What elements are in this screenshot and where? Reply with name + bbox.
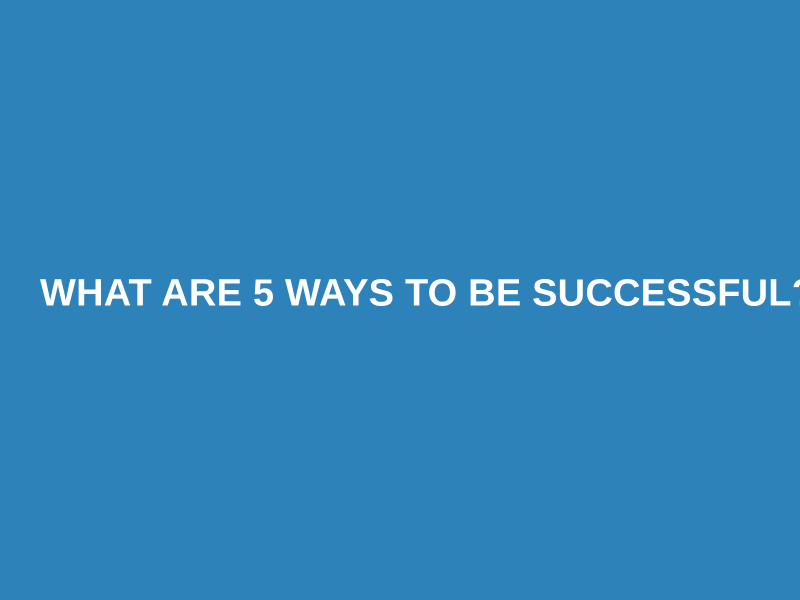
- featured-image-card: WHAT ARE 5 WAYS TO BE SUCCESSFUL?: [0, 0, 800, 600]
- page-title: WHAT ARE 5 WAYS TO BE SUCCESSFUL?: [40, 272, 760, 317]
- headline-container: WHAT ARE 5 WAYS TO BE SUCCESSFUL?: [0, 272, 800, 317]
